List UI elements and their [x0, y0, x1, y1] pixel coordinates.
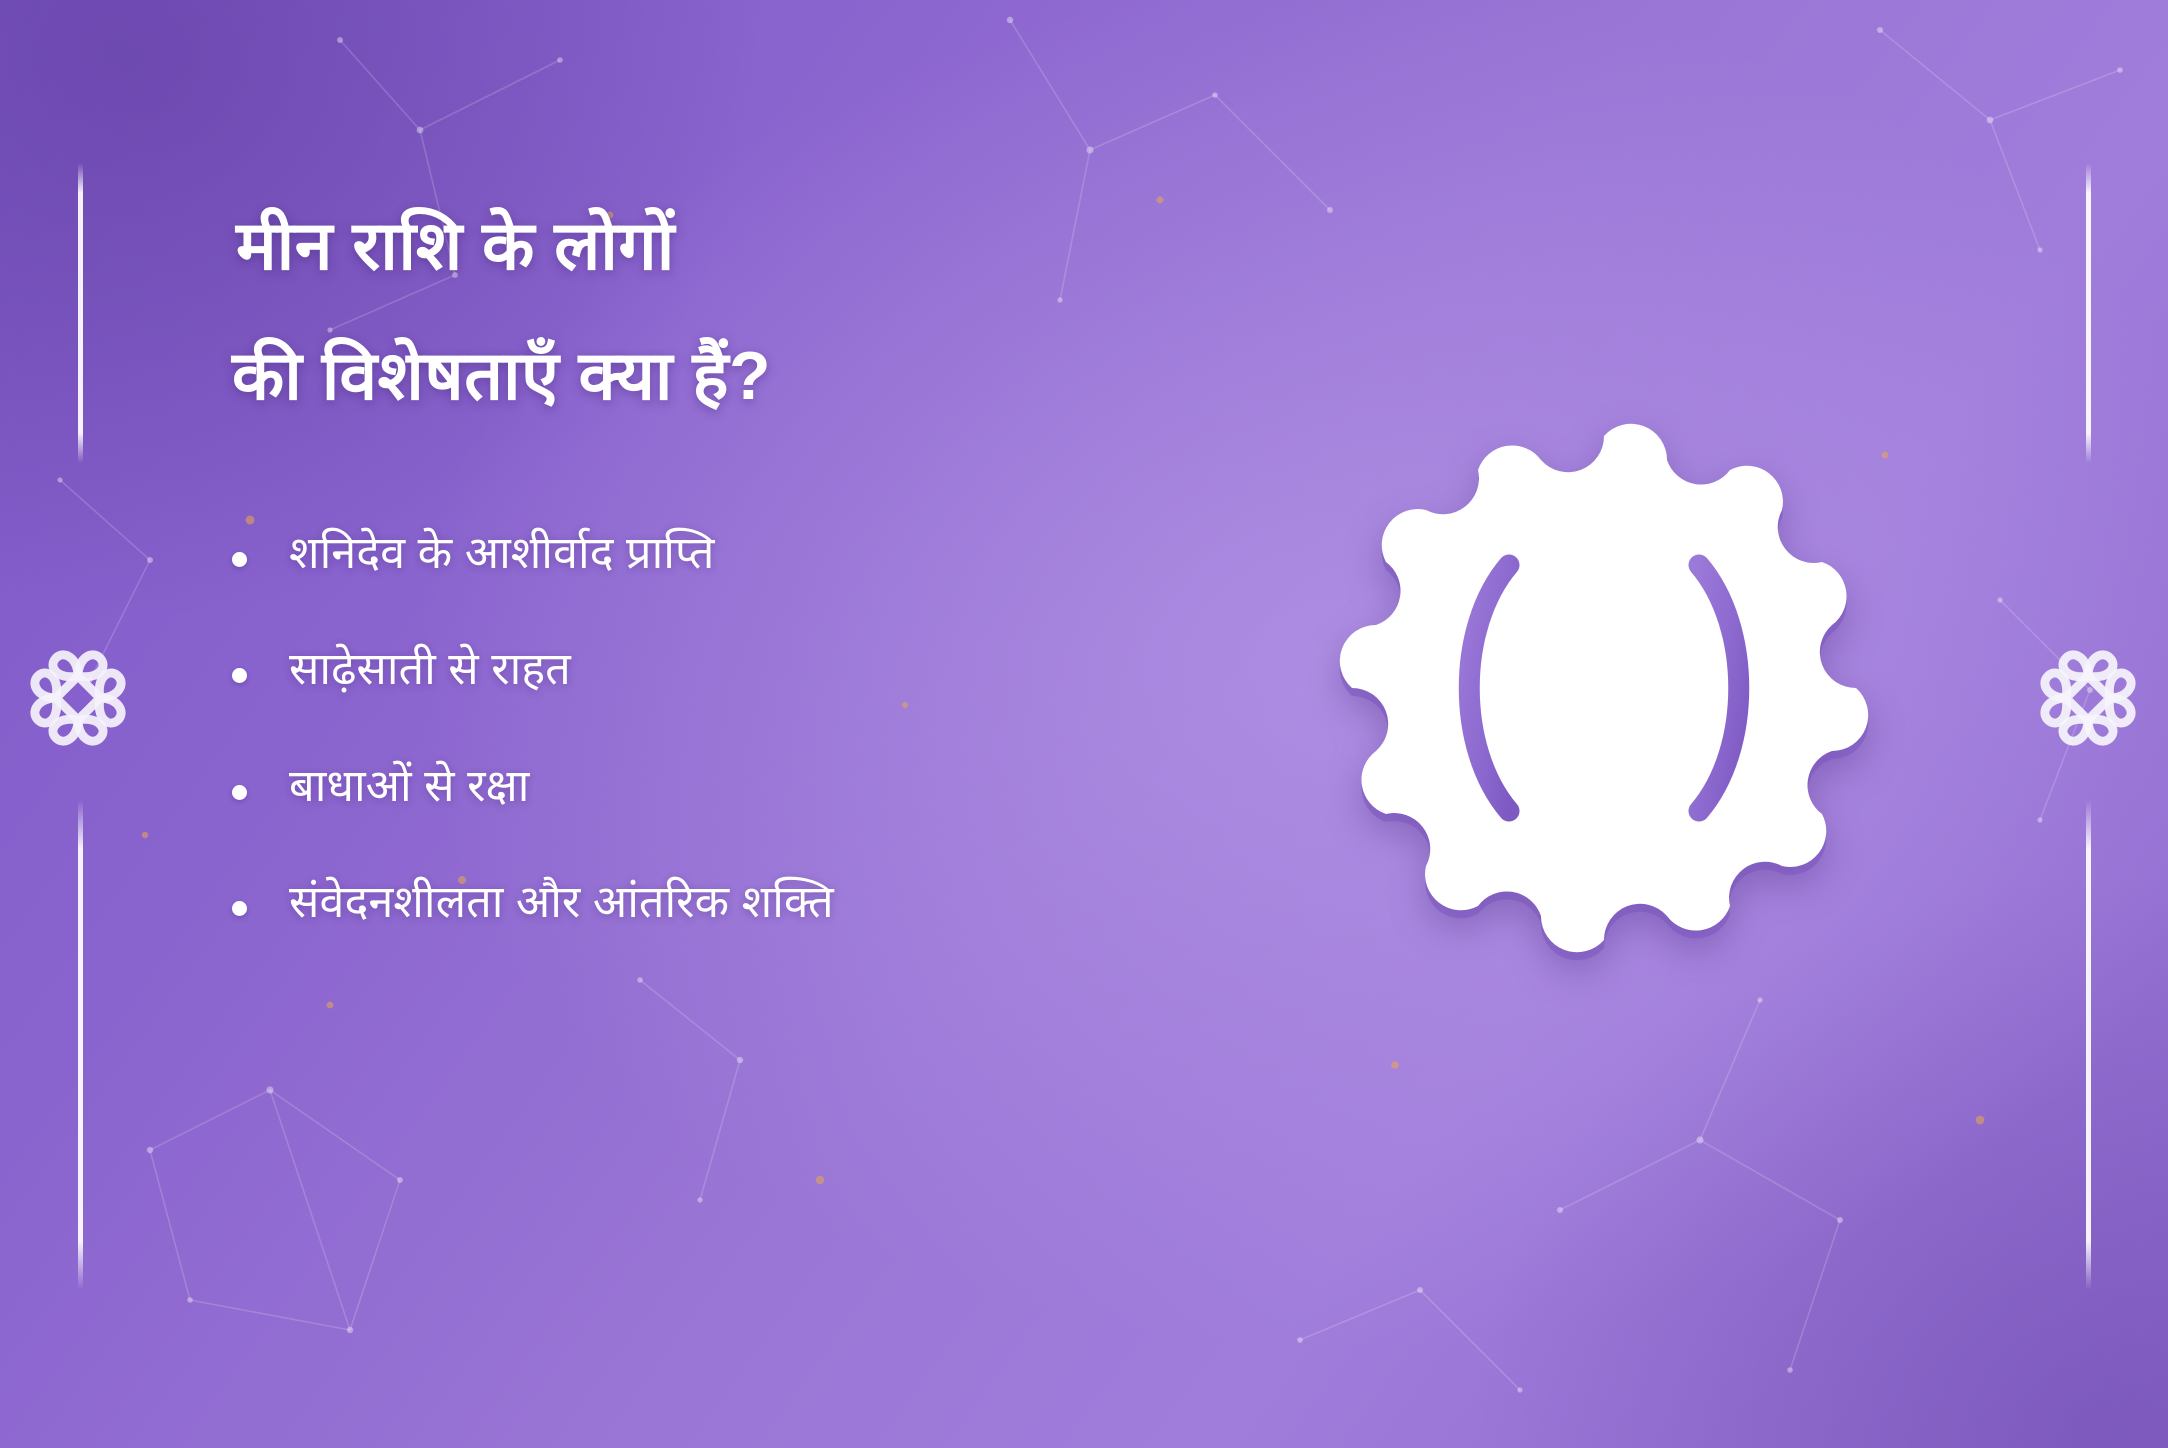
decorative-knot-right-icon: [2018, 628, 2158, 778]
bullet-dot-icon: [232, 785, 247, 800]
list-item: बाधाओं से रक्षा: [232, 761, 1252, 811]
page-title-line-1: मीन राशि के लोगों: [232, 212, 1252, 280]
vertical-rule-left-top: [78, 163, 83, 463]
feature-list: शनिदेव के आशीर्वाद प्राप्ति साढ़ेसाती से…: [232, 528, 1252, 928]
zodiac-badge: [1334, 422, 1874, 962]
bullet-dot-icon: [232, 552, 247, 567]
list-item: साढ़ेसाती से राहत: [232, 644, 1252, 694]
poster-canvas: मीन राशि के लोगों की विशेषताएँ क्या हैं?…: [0, 0, 2168, 1448]
content-column: मीन राशि के लोगों की विशेषताएँ क्या हैं?…: [232, 212, 1252, 928]
list-item: शनिदेव के आशीर्वाद प्राप्ति: [232, 528, 1252, 578]
page-title-line-2: की विशेषताएँ क्या हैं?: [232, 342, 1252, 410]
list-item-label: साढ़ेसाती से राहत: [289, 644, 571, 694]
vertical-rule-right-top: [2086, 163, 2091, 463]
list-item-label: संवेदनशीलता और आंतरिक शक्ति: [289, 877, 834, 927]
vertical-rule-left-bottom: [78, 800, 83, 1290]
bullet-dot-icon: [232, 901, 247, 916]
list-item-label: शनिदेव के आशीर्वाद प्राप्ति: [289, 528, 714, 578]
list-item: संवेदनशीलता और आंतरिक शक्ति: [232, 877, 1252, 927]
decorative-knot-left-icon: [8, 628, 148, 778]
vertical-rule-right-bottom: [2086, 800, 2091, 1290]
list-item-label: बाधाओं से रक्षा: [289, 761, 529, 811]
bullet-dot-icon: [232, 668, 247, 683]
